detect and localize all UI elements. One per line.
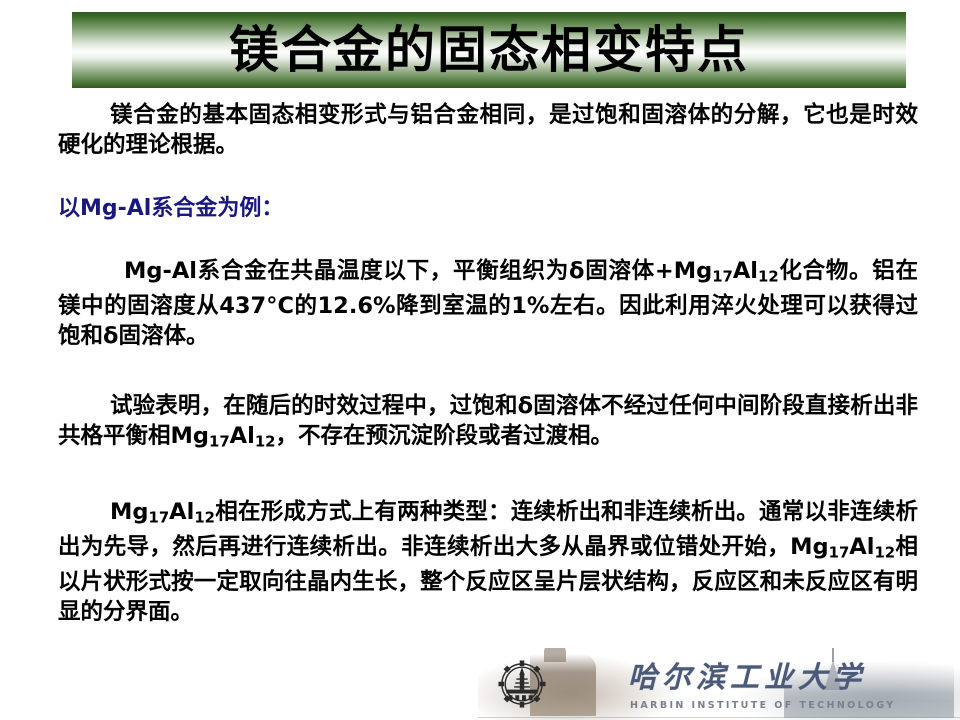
p3-text-b: Al	[230, 423, 255, 449]
footer-divider	[478, 717, 960, 718]
p2-text-b: Al	[733, 258, 758, 284]
paragraph-precipitation-types: Mg17Al12相在形成方式上有两种类型：连续析出和非连续析出。通常以非连续析出…	[58, 497, 918, 628]
p2-text-a: Mg-Al系合金在共晶温度以下，平衡组织为δ固溶体+Mg	[124, 258, 712, 284]
university-name-cn: 哈尔滨工业大学	[628, 654, 866, 696]
footer-branding-band: 哈尔滨工业大学 HARBIN INSTITUTE OF TECHNOLOGY	[478, 648, 960, 720]
p4-emphasis-precipitation-types: 连续析出和非连续析出	[511, 499, 736, 525]
paragraph-aging-experiment: 试验表明，在随后的时效过程中，过饱和δ固溶体不经过任何中间阶段直接析出非共格平衡…	[58, 391, 918, 456]
p4-subscript-12a: 12	[194, 508, 215, 526]
p4-subscript-12b: 12	[874, 543, 895, 561]
p3-subscript-17: 17	[209, 433, 230, 451]
subheading-example: 以Mg-Al系合金为例：	[58, 194, 918, 224]
university-name-en: HARBIN INSTITUTE OF TECHNOLOGY	[630, 700, 896, 711]
p2-subscript-12: 12	[758, 267, 779, 285]
p4-subscript-17b: 17	[829, 543, 850, 561]
p4-subscript-17a: 17	[149, 508, 170, 526]
p3-text-c: ，不存在预沉淀阶段或者过渡相。	[275, 423, 613, 449]
p3-subscript-12: 12	[255, 433, 276, 451]
p4-text-b: Al	[169, 499, 194, 525]
p4-text-c: 相在形成方式上有两种类型：	[215, 499, 511, 525]
hit-gear-emblem-icon	[494, 656, 550, 712]
page-title: 镁合金的固态相变特点	[72, 12, 906, 88]
slide-body: 镁合金的基本固态相变形式与铝合金相同，是过饱和固溶体的分解，它也是时效硬化的理论…	[58, 98, 918, 627]
slide-title-banner: 镁合金的固态相变特点	[72, 12, 906, 88]
p2-subscript-17: 17	[712, 267, 733, 285]
paragraph-intro: 镁合金的基本固态相变形式与铝合金相同，是过饱和固溶体的分解，它也是时效硬化的理论…	[58, 100, 918, 160]
slide-footer: 哈尔滨工业大学 HARBIN INSTITUTE OF TECHNOLOGY	[0, 648, 960, 720]
p4-text-e: Al	[849, 534, 874, 560]
p4-text-a: Mg	[110, 499, 149, 525]
paragraph-equilibrium-structure: Mg-Al系合金在共晶温度以下，平衡组织为δ固溶体+Mg17Al12化合物。铝在…	[58, 256, 918, 351]
